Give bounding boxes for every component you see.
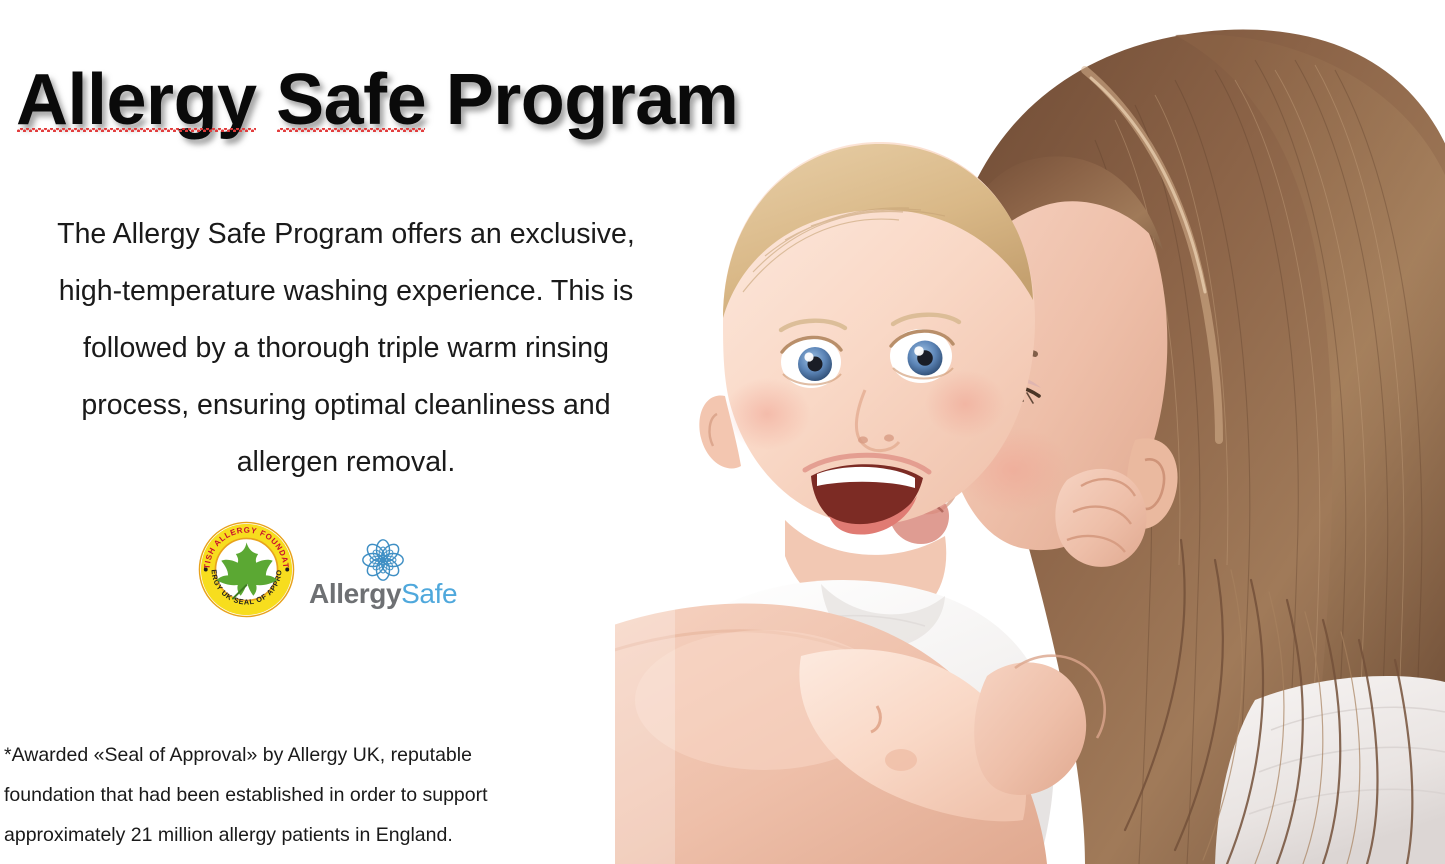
logo-row: BRITISH ALLERGY FOUNDATION ALLERGY UK SE… (198, 518, 448, 620)
flower-rosette-icon (359, 536, 407, 584)
allergysafe-logo: AllergySafe (309, 536, 457, 608)
footnote-line-3: approximately 21 million allergy patient… (4, 815, 572, 855)
mother-and-baby-photo (615, 0, 1445, 864)
footnote-line-1: *Awarded «Seal of Approval» by Allergy U… (4, 735, 572, 775)
footnote-line-2: foundation that had been established in … (4, 775, 572, 815)
title-word-allergy-misspelled: Allergy (16, 64, 257, 137)
slide-canvas: Allergy Safe Program The Allergy Safe Pr… (0, 0, 1445, 864)
footnote: *Awarded «Seal of Approval» by Allergy U… (4, 735, 572, 855)
allergy-uk-seal-icon: BRITISH ALLERGY FOUNDATION ALLERGY UK SE… (198, 521, 295, 618)
body-copy: The Allergy Safe Program offers an exclu… (40, 206, 652, 491)
wordmark-allergy: Allergy (309, 578, 401, 609)
title-word-safe-misspelled: Safe (276, 64, 426, 137)
wordmark-safe: Safe (401, 578, 457, 609)
title-word-program: Program (446, 60, 739, 140)
allergysafe-wordmark: AllergySafe (309, 580, 457, 608)
body-copy-text: The Allergy Safe Program offers an exclu… (40, 206, 652, 491)
page-title: Allergy Safe Program (16, 64, 716, 137)
